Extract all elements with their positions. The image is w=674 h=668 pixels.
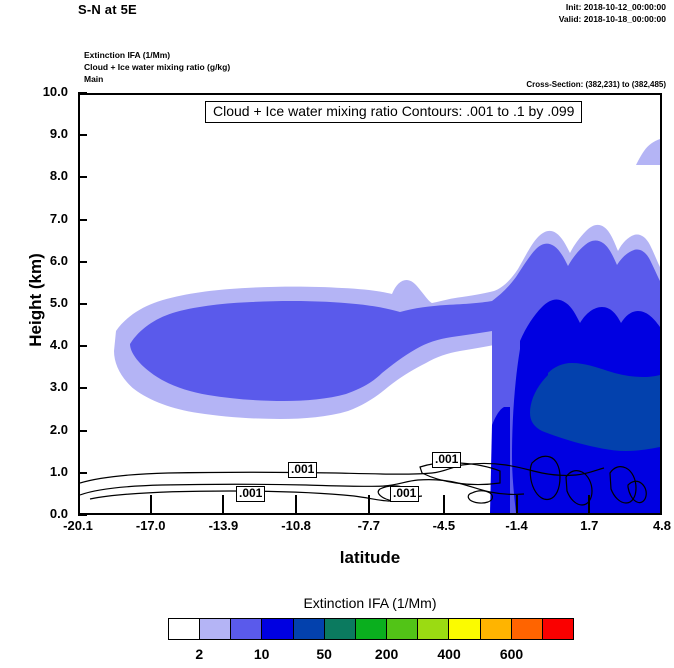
valid-time-label: Valid: 2018-10-18_00:00:00 — [559, 14, 666, 24]
colorbar-swatch-10 — [481, 619, 512, 639]
colorbar-label: 600 — [484, 646, 540, 662]
colorbar-swatch-0 — [169, 619, 200, 639]
x-axis-title: latitude — [227, 548, 513, 568]
y-axis-tick — [78, 261, 87, 263]
x-axis-tick — [150, 495, 152, 515]
cross-section-plot — [78, 93, 662, 515]
contour-label-001-c: .001 — [236, 486, 265, 502]
contour-title-box: Cloud + Ice water mixing ratio Contours:… — [205, 101, 582, 123]
y-axis-label: 7.0 — [6, 211, 68, 226]
y-axis-tick — [78, 219, 87, 221]
y-axis-tick — [78, 387, 87, 389]
x-axis-label: -10.8 — [261, 518, 331, 533]
y-axis-tick — [78, 430, 87, 432]
colorbar-label: 50 — [296, 646, 352, 662]
x-axis-label: -13.9 — [188, 518, 258, 533]
colorbar-swatch-4 — [294, 619, 325, 639]
colorbar-swatch-12 — [543, 619, 573, 639]
colorbar-swatch-9 — [449, 619, 480, 639]
x-axis-label: -20.1 — [43, 518, 113, 533]
contour-field — [80, 95, 660, 513]
y-axis-label: 4.0 — [6, 337, 68, 352]
y-axis-label: 10.0 — [6, 84, 68, 99]
colorbar-swatch-3 — [262, 619, 293, 639]
page-title: S-N at 5E — [78, 2, 137, 17]
colorbar-swatch-6 — [356, 619, 387, 639]
variable-line-1: Extinction IFA (1/Mm) — [84, 50, 170, 60]
y-axis-label: 8.0 — [6, 168, 68, 183]
y-axis-label: 3.0 — [6, 379, 68, 394]
contour-label-001-b: .001 — [432, 452, 461, 468]
y-axis-tick — [78, 345, 87, 347]
colorbar-title: Extinction IFA (1/Mm) — [167, 595, 573, 611]
colorbar-swatch-7 — [387, 619, 418, 639]
x-axis-label: -4.5 — [409, 518, 479, 533]
y-axis-label: 1.0 — [6, 464, 68, 479]
x-axis-tick — [443, 495, 445, 515]
y-axis-label: 9.0 — [6, 126, 68, 141]
contour-label-001-d: .001 — [390, 486, 419, 502]
x-axis-label: -17.0 — [116, 518, 186, 533]
colorbar-label: 2 — [171, 646, 227, 662]
colorbar-swatch-2 — [231, 619, 262, 639]
x-axis-tick — [516, 495, 518, 515]
y-axis-tick — [78, 472, 87, 474]
y-axis-tick — [78, 134, 87, 136]
colorbar-label: 400 — [421, 646, 477, 662]
y-axis-tick — [78, 303, 87, 305]
x-axis-label: -1.4 — [482, 518, 552, 533]
x-axis-tick — [222, 495, 224, 515]
x-axis-label: 4.8 — [627, 518, 674, 533]
colorbar-swatch-11 — [512, 619, 543, 639]
contour-label-001-a: .001 — [288, 462, 317, 478]
colorbar-swatch-8 — [418, 619, 449, 639]
x-axis-tick — [588, 495, 590, 515]
x-axis-label: 1.7 — [554, 518, 624, 533]
variable-line-2: Cloud + Ice water mixing ratio (g/kg) — [84, 62, 230, 72]
colorbar-swatch-1 — [200, 619, 231, 639]
init-time-label: Init: 2018-10-12_00:00:00 — [566, 2, 666, 12]
colorbar-label: 200 — [359, 646, 415, 662]
y-axis-tick — [78, 176, 87, 178]
x-axis-tick — [368, 495, 370, 515]
colorbar-label: 10 — [234, 646, 290, 662]
y-axis-label: 2.0 — [6, 422, 68, 437]
y-axis-tick — [78, 514, 87, 516]
cross-section-label: Cross-Section: (382,231) to (382,485) — [526, 80, 666, 89]
variable-line-3: Main — [84, 74, 103, 84]
x-axis-label: -7.7 — [334, 518, 404, 533]
colorbar — [168, 618, 574, 640]
y-axis-tick — [78, 92, 87, 94]
colorbar-swatch-5 — [325, 619, 356, 639]
band1-upper-right-sliver — [636, 139, 660, 165]
x-axis-tick — [295, 495, 297, 515]
y-axis-label: 6.0 — [6, 253, 68, 268]
y-axis-label: 5.0 — [6, 295, 68, 310]
